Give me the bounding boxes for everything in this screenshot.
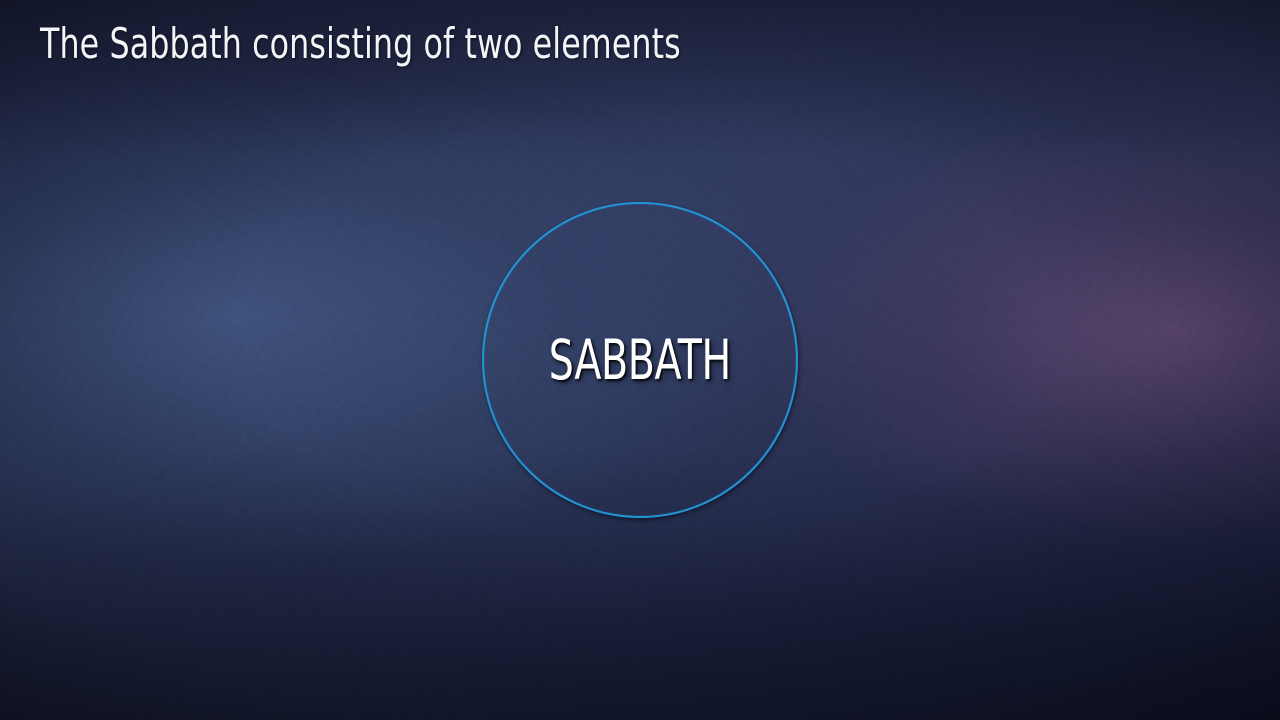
slide-title: The Sabbath consisting of two elements xyxy=(40,19,681,68)
presentation-slide: The Sabbath consisting of two elements S… xyxy=(0,0,1280,720)
background-vignette xyxy=(0,0,1280,720)
